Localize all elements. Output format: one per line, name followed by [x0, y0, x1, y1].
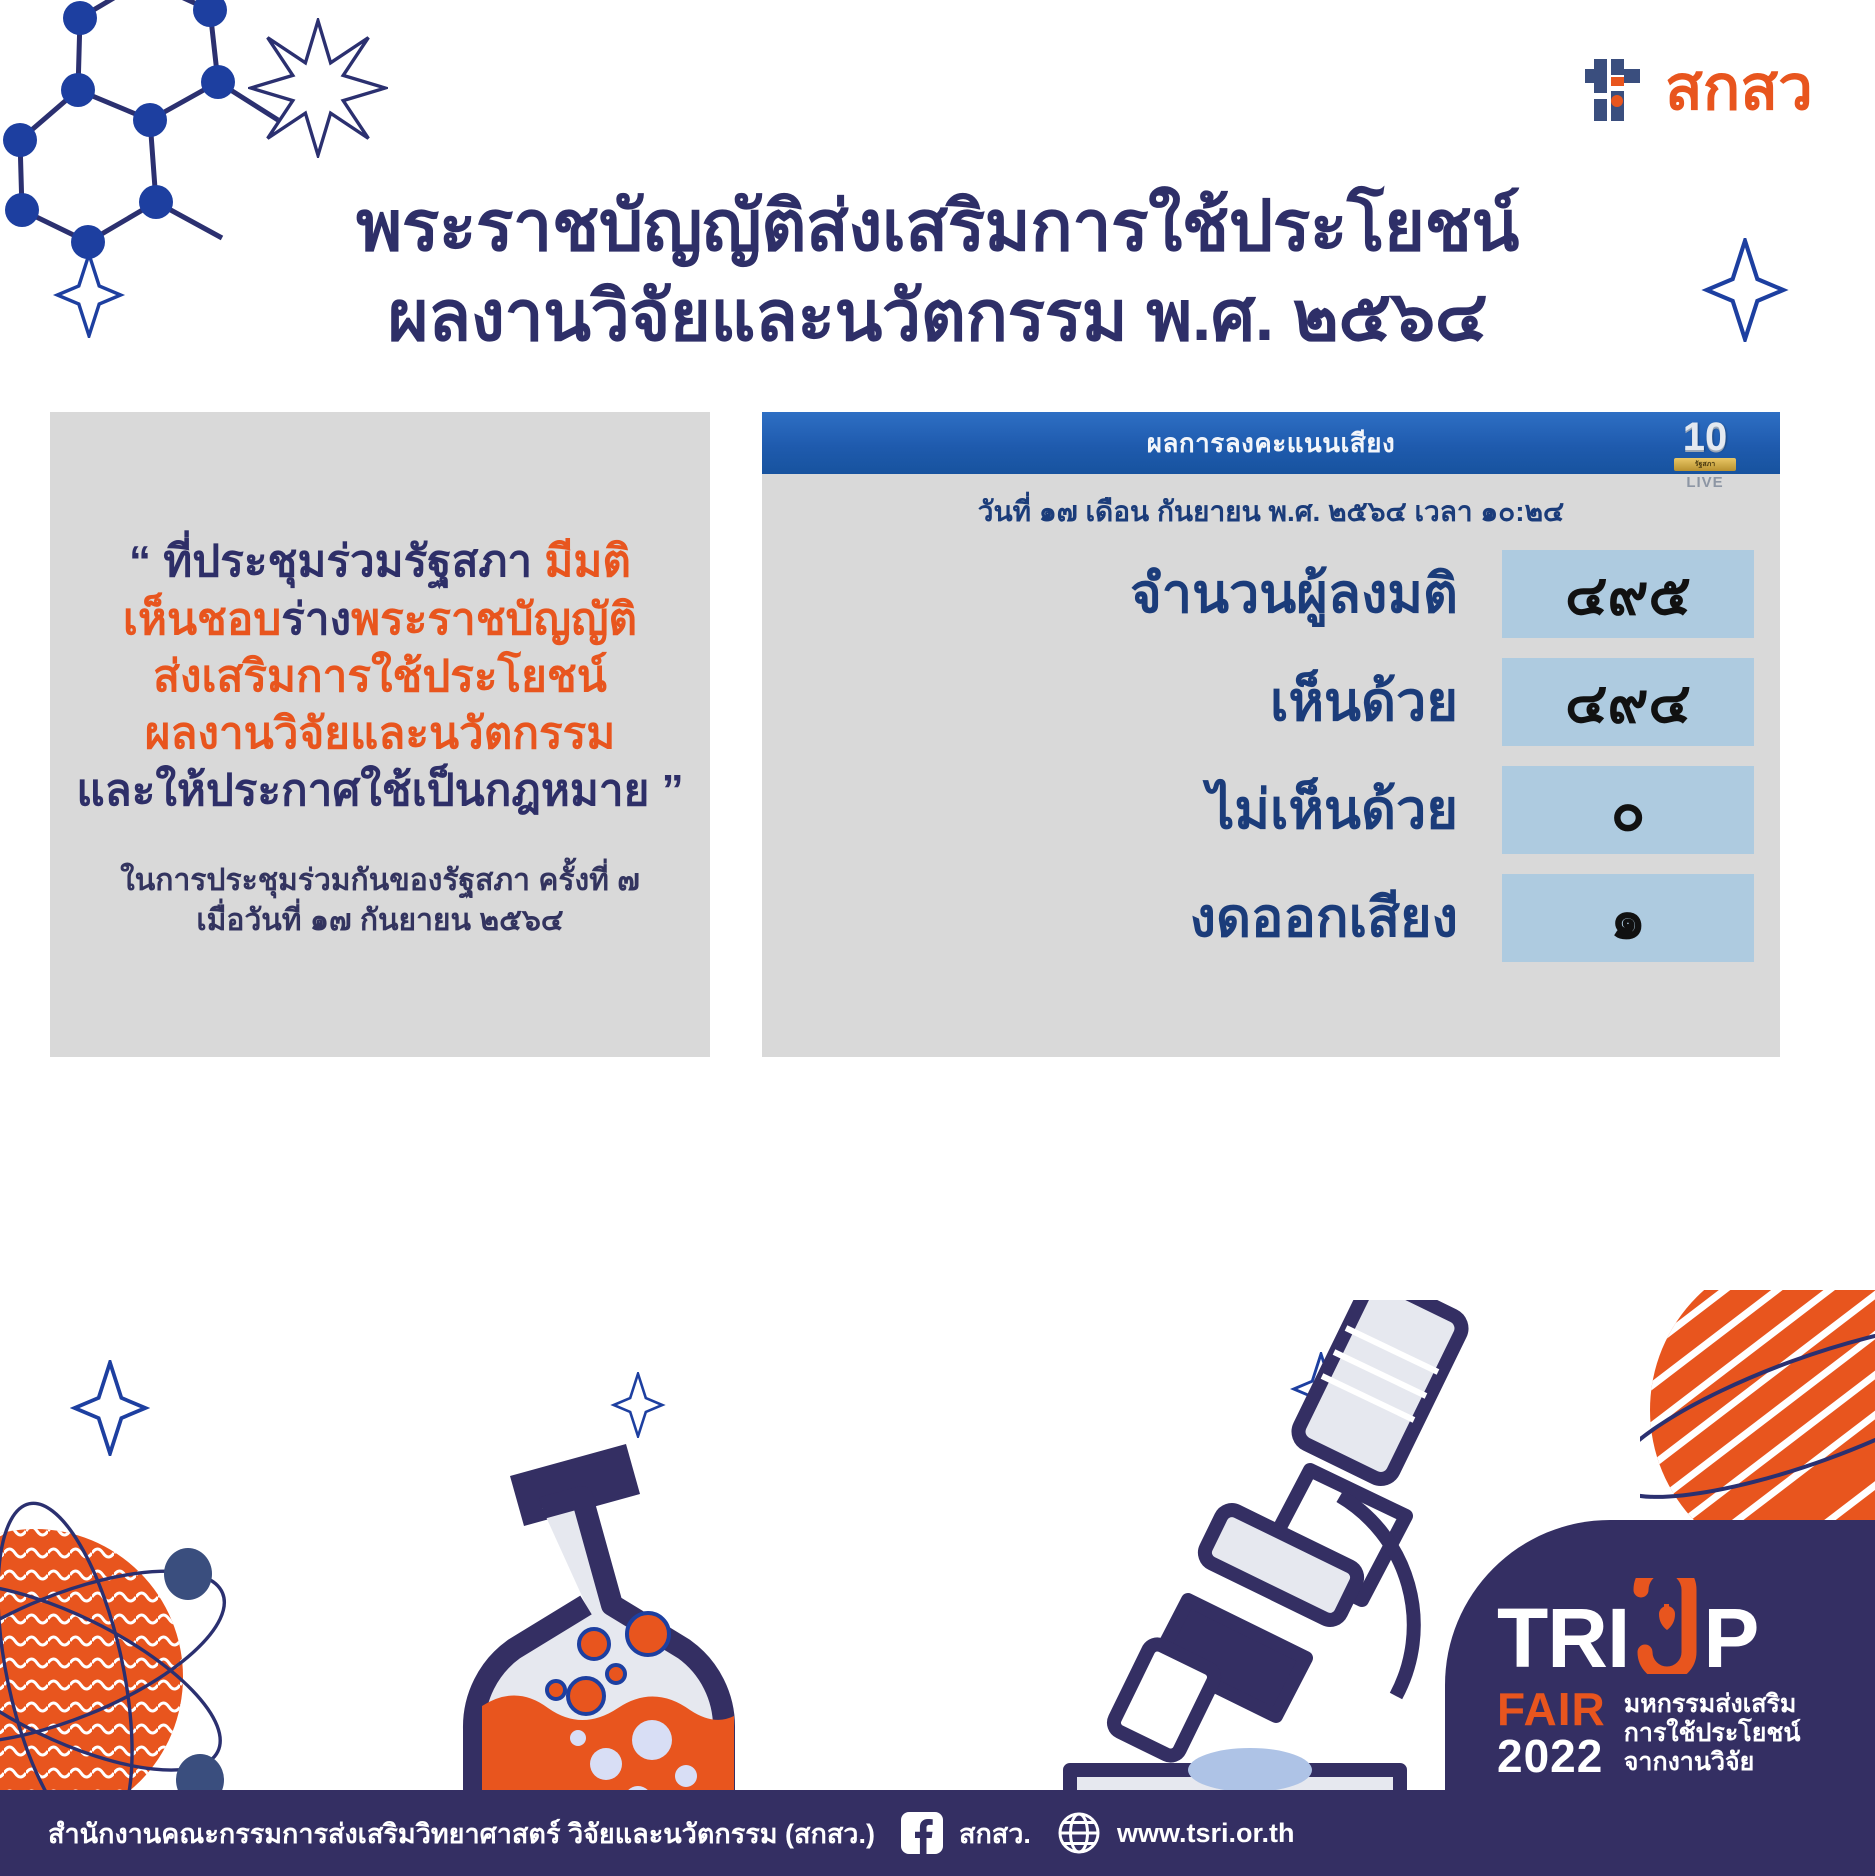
vote-row-value: ๔๙๔ — [1502, 658, 1754, 746]
triup-tri-text: TRI — [1497, 1603, 1629, 1674]
channel-live-label: LIVE — [1686, 474, 1723, 491]
quote-caption-line-2: เมื่อวันที่ ๑๗ กันยายน ๒๕๖๔ — [196, 904, 563, 937]
vote-results-card: ผลการลงคะแนนเสียง 10 รัฐสภา LIVE วันที่ … — [762, 412, 1780, 1057]
sparkle-icon — [70, 1360, 150, 1456]
triup-fair-logo: TRI P FAIR 2022 มหกรรมส่งเสริม การใช้ประ… — [1445, 1520, 1875, 1790]
footer-facebook[interactable]: สกสว. — [901, 1812, 1031, 1855]
vote-row-label: งดออกเสียง — [784, 891, 1502, 945]
lightbulb-u-icon — [1629, 1578, 1703, 1674]
quote-seg-3: เห็นชอบ — [123, 595, 281, 644]
quote-open-mark: “ — [129, 537, 151, 586]
quote-card: “ ที่ประชุมร่วมรัฐสภา มีมติ เห็นชอบร่างพ… — [50, 412, 710, 1057]
triup-tagline-line-2: การใช้ประโยชน์ — [1624, 1719, 1801, 1748]
sparkle-icon — [610, 1372, 666, 1438]
table-row: ไม่เห็นด้วย ๐ — [784, 756, 1754, 864]
quote-seg-4: ร่าง — [281, 595, 351, 644]
triup-tagline: มหกรรมส่งเสริม การใช้ประโยชน์ จากงานวิจั… — [1624, 1686, 1801, 1777]
channel-10-live-badge: 10 รัฐสภา LIVE — [1666, 418, 1744, 506]
vote-row-label: จำนวนผู้ลงมติ — [784, 567, 1502, 621]
page-title: พระราชบัญญัติส่งเสริมการใช้ประโยชน์ ผลงา… — [0, 182, 1875, 361]
quote-caption-line-1: ในการประชุมร่วมกันของรัฐสภา ครั้งที่ ๗ — [120, 864, 640, 897]
triup-fair-year: FAIR 2022 — [1497, 1686, 1606, 1780]
quote-caption: ในการประชุมร่วมกันของรัฐสภา ครั้งที่ ๗ เ… — [120, 861, 640, 941]
sparkle-icon — [1290, 1352, 1352, 1426]
quote-seg-7: ผลงานวิจัยและนวัตกรรม — [145, 709, 616, 758]
triup-subtitle-row: FAIR 2022 มหกรรมส่งเสริม การใช้ประโยชน์ … — [1497, 1686, 1845, 1780]
quote-text: “ ที่ประชุมร่วมรัฐสภา มีมติ เห็นชอบร่างพ… — [76, 533, 683, 819]
vote-date-line: วันที่ ๑๗ เดือน กันยายน พ.ศ. ๒๕๖๔ เวลา ๑… — [762, 490, 1780, 534]
footer-bar: สำนักงานคณะกรรมการส่งเสริมวิทยาศาสตร์ วิ… — [0, 1790, 1875, 1876]
tsri-block-mark-icon — [1583, 55, 1651, 123]
vote-row-label: เห็นด้วย — [784, 675, 1502, 729]
content-panels: “ ที่ประชุมร่วมรัฐสภา มีมติ เห็นชอบร่างพ… — [50, 412, 1825, 1057]
brand-wordmark: สกสว — [1665, 58, 1813, 120]
channel-bar-text: รัฐสภา — [1674, 458, 1736, 471]
footer-organization: สำนักงานคณะกรรมการส่งเสริมวิทยาศาสตร์ วิ… — [48, 1812, 875, 1855]
vote-header-bar: ผลการลงคะแนนเสียง 10 รัฐสภา LIVE — [762, 412, 1780, 474]
quote-close-mark: ” — [662, 766, 684, 815]
footer-website-label[interactable]: www.tsri.or.th — [1117, 1818, 1295, 1849]
globe-icon[interactable] — [1057, 1811, 1101, 1855]
footer-website[interactable]: www.tsri.or.th — [1057, 1811, 1295, 1855]
vote-header-title: ผลการลงคะแนนเสียง — [1147, 423, 1395, 464]
vote-row-label: ไม่เห็นด้วย — [784, 783, 1502, 837]
facebook-icon[interactable] — [901, 1812, 943, 1854]
quote-seg-2: มีมติ — [544, 537, 631, 586]
eight-point-star-icon — [248, 18, 388, 158]
triup-tagline-line-1: มหกรรมส่งเสริม — [1624, 1690, 1801, 1719]
triup-p-text: P — [1703, 1603, 1759, 1674]
vote-row-value: ๐ — [1502, 766, 1754, 854]
flask-decoration-icon — [390, 1438, 780, 1838]
triup-wordmark: TRI P — [1497, 1578, 1845, 1674]
table-row: จำนวนผู้ลงมติ ๔๙๕ — [784, 540, 1754, 648]
triup-fair-text: FAIR — [1497, 1686, 1606, 1733]
sparkle-icon — [820, 1530, 872, 1592]
channel-number: 10 — [1683, 418, 1728, 456]
vote-rows: จำนวนผู้ลงมติ ๔๙๕ เห็นด้วย ๔๙๔ ไม่เห็นด้… — [762, 540, 1780, 972]
vote-row-value: ๔๙๕ — [1502, 550, 1754, 638]
table-row: งดออกเสียง ๑ — [784, 864, 1754, 972]
tsri-brand-logo: สกสว — [1583, 55, 1813, 123]
quote-seg-6: ส่งเสริมการใช้ประโยชน์ — [153, 652, 607, 701]
vote-row-value: ๑ — [1502, 874, 1754, 962]
title-line-2: ผลงานวิจัยและนวัตกรรม พ.ศ. ๒๕๖๔ — [0, 272, 1875, 362]
quote-seg-5: พระราชบัญญัติ — [351, 595, 637, 644]
table-row: เห็นด้วย ๔๙๔ — [784, 648, 1754, 756]
triup-tagline-line-3: จากงานวิจัย — [1624, 1748, 1801, 1777]
footer-facebook-label[interactable]: สกสว. — [959, 1812, 1031, 1855]
title-line-1: พระราชบัญญัติส่งเสริมการใช้ประโยชน์ — [0, 182, 1875, 272]
triup-year-text: 2022 — [1497, 1733, 1606, 1780]
quote-seg-1: ที่ประชุมร่วมรัฐสภา — [151, 537, 544, 586]
poster-canvas: สกสว พระราชบัญญัติส่งเสริมการใช้ประโยชน์… — [0, 0, 1875, 1876]
quote-seg-8: และให้ประกาศใช้เป็นกฎหมาย — [76, 766, 661, 815]
atom-decoration-icon — [0, 1432, 330, 1832]
